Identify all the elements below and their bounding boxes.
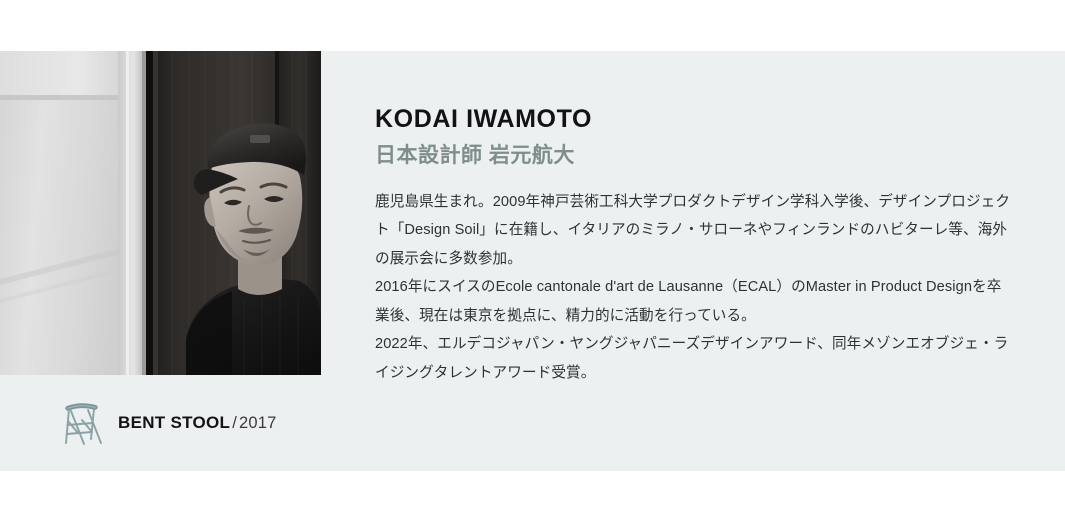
profile-content: KODAI IWAMOTO 日本設計師 岩元航大 鹿児島県生まれ。2009年神戸… (375, 105, 1015, 387)
product-caption: BENT STOOL/2017 (0, 375, 321, 471)
caption-text: BENT STOOL/2017 (118, 413, 277, 433)
designer-name-jp: 日本設計師 岩元航大 (375, 143, 1015, 168)
bio-paragraph-2: 2016年にスイスのEcole cantonale d'art de Lausa… (375, 273, 1015, 330)
designer-name-en: KODAI IWAMOTO (375, 105, 1015, 134)
caption-year: 2017 (239, 414, 277, 432)
designer-bio: 鹿児島県生まれ。2009年神戸芸術工科大学プロダクトデザイン学科入学後、デザイン… (375, 188, 1015, 388)
bent-stool-icon (58, 399, 104, 447)
left-column: BENT STOOL/2017 (0, 51, 321, 471)
caption-product-name: BENT STOOL (118, 413, 230, 432)
caption-separator: / (230, 414, 239, 432)
profile-page: BENT STOOL/2017 KODAI IWAMOTO 日本設計師 岩元航大… (0, 0, 1065, 515)
bio-paragraph-3: 2022年、エルデコジャパン・ヤングジャパニーズデザインアワード、同年メゾンエオ… (375, 330, 1015, 387)
bio-paragraph-1: 鹿児島県生まれ。2009年神戸芸術工科大学プロダクトデザイン学科入学後、デザイン… (375, 188, 1015, 274)
portrait-photo (0, 51, 321, 375)
